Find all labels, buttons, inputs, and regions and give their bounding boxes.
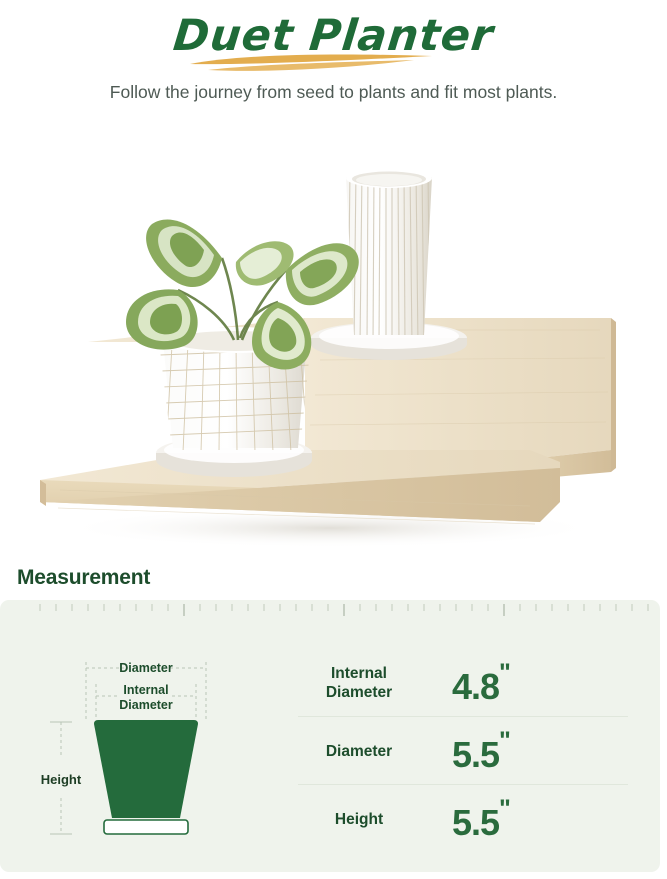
page-subtitle: Follow the journey from seed to plants a…: [84, 80, 583, 105]
label-diameter: Diameter: [119, 661, 173, 675]
pot-dimension-diagram: Diameter Internal Diameter Height: [20, 640, 270, 855]
title-underline-brush: [186, 52, 436, 74]
row-value-number: 4.8: [452, 666, 499, 707]
row-label-line1: Internal: [288, 664, 430, 683]
label-internal-diameter-line1: Internal: [123, 683, 168, 697]
row-label-line2: Diameter: [288, 683, 430, 702]
table-row: Height 5.5": [288, 788, 638, 850]
row-label-line1: Height: [288, 810, 430, 829]
ruler-decoration: [0, 600, 660, 626]
table-row: Internal Diameter 4.8": [288, 652, 638, 714]
row-value: 5.5": [430, 795, 638, 844]
row-value: 5.5": [430, 727, 638, 776]
row-label-line1: Diameter: [288, 742, 430, 761]
product-photo: [0, 150, 667, 550]
row-label: Height: [288, 810, 430, 829]
diagram-pot-body: [94, 720, 198, 818]
header: Duet Planter Follow the journey from see…: [0, 0, 667, 150]
measurement-panel: Diameter Internal Diameter Height: [0, 600, 660, 872]
diagram-saucer: [104, 820, 188, 834]
pot-body: [346, 177, 432, 335]
product-detail-page: Duet Planter Follow the journey from see…: [0, 0, 667, 879]
row-value-number: 5.5: [452, 734, 499, 775]
row-value-unit: ": [499, 659, 510, 687]
label-height: Height: [41, 772, 82, 787]
row-label: Diameter: [288, 742, 430, 761]
measurement-heading: Measurement: [17, 566, 150, 590]
row-value-number: 5.5: [452, 802, 499, 843]
row-value-unit: ": [499, 795, 510, 823]
dimension-table: Internal Diameter 4.8" Diameter 5.5" Hei…: [288, 648, 638, 853]
label-internal-diameter-line2: Diameter: [119, 698, 173, 712]
table-divider: [298, 784, 628, 785]
table-divider: [298, 716, 628, 717]
row-value: 4.8": [430, 659, 638, 708]
table-row: Diameter 5.5": [288, 720, 638, 782]
row-label: Internal Diameter: [288, 664, 430, 702]
row-value-unit: ": [499, 727, 510, 755]
